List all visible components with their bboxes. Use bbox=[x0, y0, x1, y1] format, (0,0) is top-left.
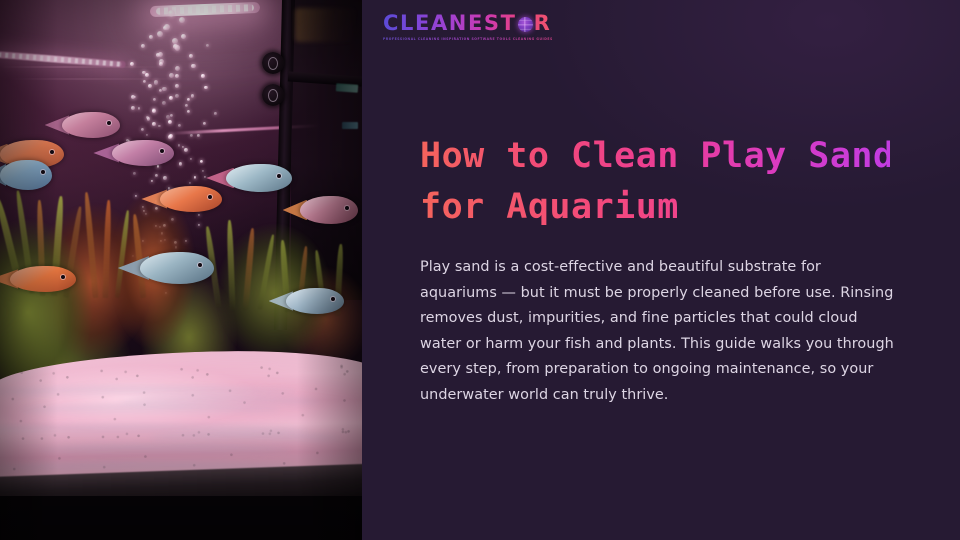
fish bbox=[226, 164, 292, 192]
bubble bbox=[152, 109, 156, 113]
bubble bbox=[153, 98, 156, 101]
fish-eye bbox=[345, 206, 349, 210]
bubble bbox=[179, 162, 183, 166]
bubble bbox=[201, 74, 205, 78]
bubble bbox=[149, 35, 153, 39]
bubble bbox=[157, 31, 163, 37]
page-title: How to Clean Play Sand for Aquarium bbox=[420, 131, 890, 233]
bubble bbox=[191, 94, 195, 98]
fish-body bbox=[226, 164, 292, 192]
brand-name-part2: R bbox=[534, 13, 552, 34]
fish bbox=[160, 186, 222, 212]
bubble bbox=[172, 38, 178, 44]
fish-body bbox=[160, 186, 222, 212]
fish-body bbox=[286, 288, 344, 314]
bubble bbox=[175, 94, 179, 98]
bubble bbox=[191, 64, 195, 68]
bubble bbox=[173, 44, 178, 49]
brand-logo[interactable]: CLEANESTR PROFESSIONAL CLEANING INSPIRAT… bbox=[383, 13, 553, 41]
fish bbox=[62, 112, 120, 138]
page-title-line-1: How to Clean Play Sand bbox=[420, 131, 890, 182]
bubble bbox=[184, 148, 188, 152]
bubble bbox=[169, 73, 174, 78]
bubble bbox=[131, 106, 135, 110]
fish-eye bbox=[198, 263, 202, 267]
bubble bbox=[138, 107, 141, 110]
bubble bbox=[203, 122, 206, 125]
article-intro-paragraph: Play sand is a cost-effective and beauti… bbox=[420, 255, 898, 409]
bubble bbox=[181, 34, 186, 39]
bubble bbox=[178, 144, 181, 147]
bubble bbox=[190, 134, 193, 137]
fish bbox=[286, 288, 344, 314]
fish-eye bbox=[50, 150, 54, 154]
fish-eye bbox=[41, 170, 45, 174]
bubble bbox=[170, 114, 173, 117]
bubble bbox=[154, 80, 159, 85]
fish-body bbox=[300, 196, 358, 224]
equipment-label-chip-2 bbox=[342, 122, 358, 129]
bubble bbox=[197, 134, 200, 137]
fish-body bbox=[140, 252, 214, 284]
bubble bbox=[204, 86, 207, 89]
bubble bbox=[159, 62, 163, 66]
bubble bbox=[133, 172, 136, 175]
bubble bbox=[200, 160, 203, 163]
bubble bbox=[152, 122, 156, 126]
suction-cup-icon bbox=[262, 52, 284, 74]
brand-wordmark: CLEANESTR bbox=[383, 13, 553, 34]
bubble bbox=[179, 17, 185, 23]
fish-body bbox=[112, 140, 174, 166]
fish-body bbox=[10, 266, 76, 292]
sand-ripple bbox=[150, 432, 340, 444]
bubble bbox=[143, 80, 146, 83]
equipment-label-chip bbox=[336, 83, 359, 93]
page-title-line-2: for Aquarium bbox=[420, 182, 890, 233]
bubble bbox=[159, 89, 162, 92]
photo-foreground-shadow bbox=[0, 496, 362, 540]
bubble bbox=[175, 84, 179, 88]
bubble bbox=[148, 84, 152, 88]
fish bbox=[112, 140, 174, 166]
content-panel: CLEANESTR PROFESSIONAL CLEANING INSPIRAT… bbox=[362, 0, 960, 540]
bubble bbox=[169, 134, 173, 138]
bubble bbox=[162, 87, 166, 91]
bubble bbox=[162, 101, 166, 105]
fish bbox=[10, 266, 76, 292]
slide-root: CLEANESTR PROFESSIONAL CLEANING INSPIRAT… bbox=[0, 0, 960, 540]
suction-cup-icon bbox=[262, 84, 284, 106]
sand-ripple bbox=[40, 444, 290, 456]
brand-tagline: PROFESSIONAL CLEANING INSPIRATION SOFTWA… bbox=[383, 37, 553, 41]
bubble bbox=[175, 74, 179, 78]
fish bbox=[300, 196, 358, 224]
fish-body bbox=[62, 112, 120, 138]
bubble bbox=[175, 66, 180, 71]
bubble bbox=[141, 44, 145, 48]
fish-body bbox=[0, 160, 52, 190]
globe-o-icon bbox=[518, 17, 533, 32]
bubble bbox=[168, 10, 175, 17]
hero-image bbox=[0, 0, 362, 540]
brand-name-part1: CLEANEST bbox=[383, 13, 517, 34]
bubble bbox=[214, 112, 217, 115]
bubble bbox=[206, 44, 209, 47]
bubble bbox=[147, 117, 151, 121]
bubble bbox=[169, 96, 173, 100]
fish bbox=[140, 252, 214, 284]
fish bbox=[0, 160, 52, 190]
bubble bbox=[156, 53, 160, 57]
sand-ripple bbox=[120, 396, 320, 408]
